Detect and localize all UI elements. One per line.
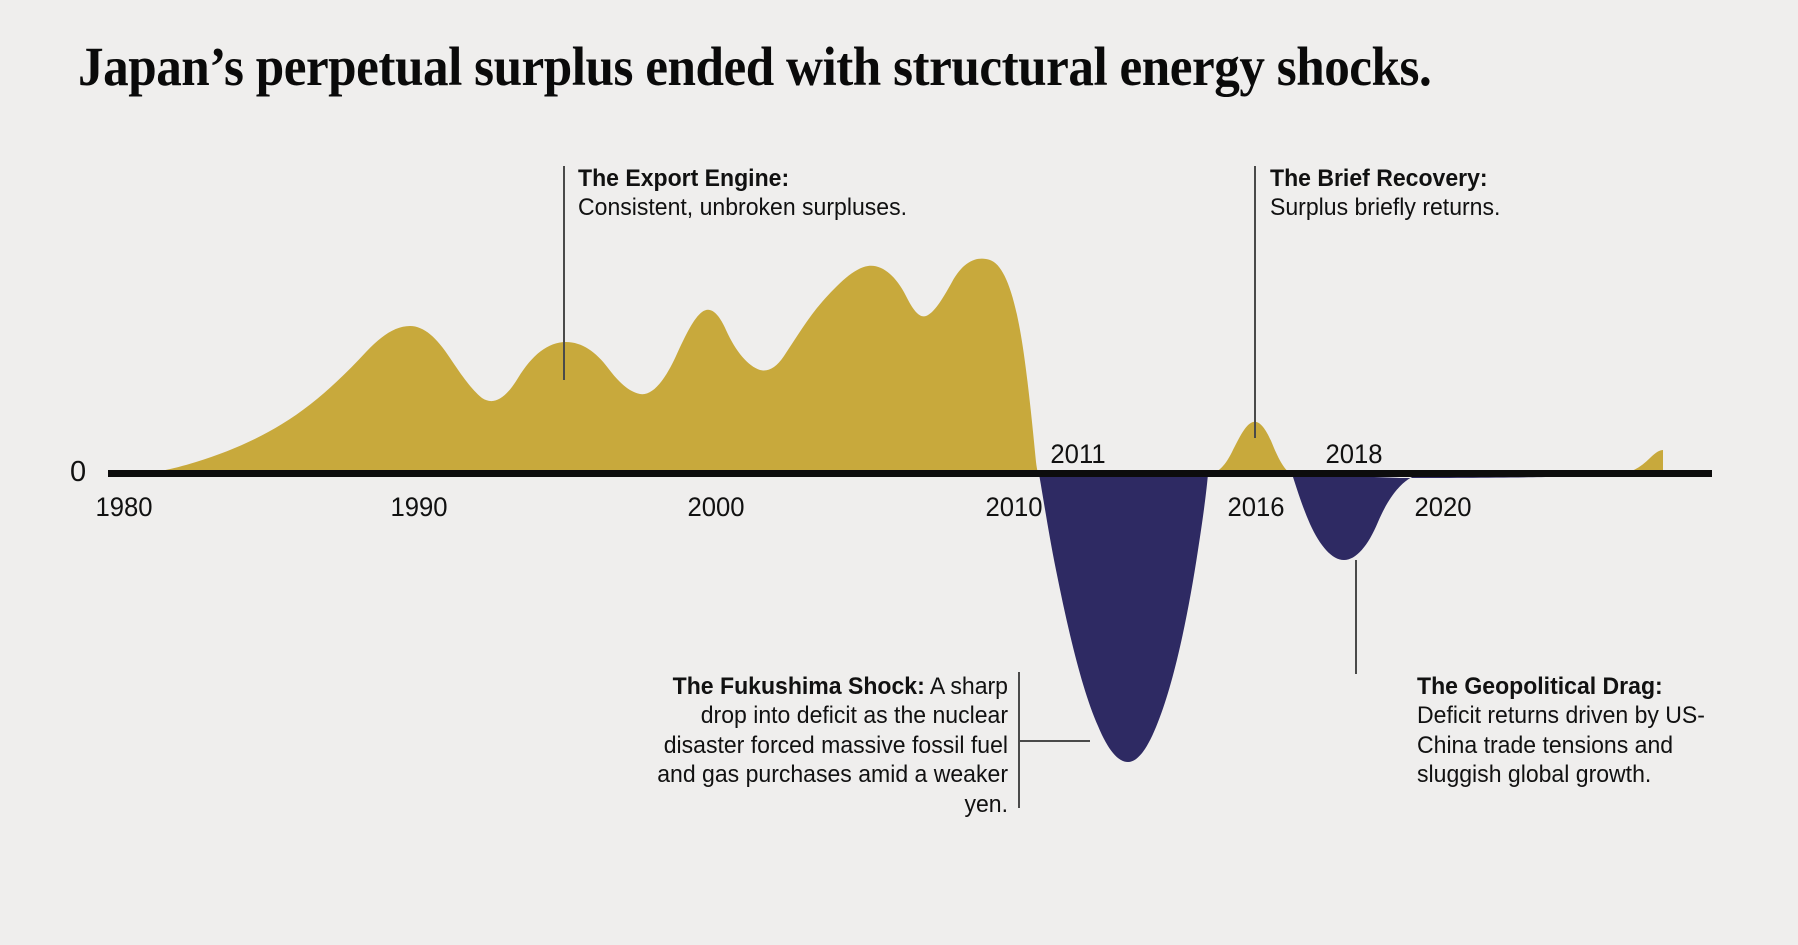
- leader-line-geopolitical-drag: [1355, 560, 1357, 674]
- axis-tick-1980: 1980: [77, 492, 172, 523]
- annotation-geopolitical-drag-heading: The Geopolitical Drag:: [1417, 672, 1727, 701]
- axis-tick-1990: 1990: [372, 492, 467, 523]
- deficit-area-fukushima: [1039, 474, 1208, 762]
- annotation-brief-recovery: The Brief Recovery: Surplus briefly retu…: [1270, 164, 1627, 223]
- annotation-brief-recovery-heading: The Brief Recovery:: [1270, 164, 1627, 193]
- leader-line-export-engine: [563, 166, 565, 380]
- axis-tick-2000: 2000: [669, 492, 764, 523]
- zero-axis-line: [108, 470, 1712, 477]
- annotation-geopolitical-drag: The Geopolitical Drag: Deficit returns d…: [1417, 672, 1727, 790]
- annotation-export-engine-heading: The Export Engine:: [578, 164, 973, 193]
- axis-zero-label: 0: [70, 456, 86, 489]
- leader-line-fukushima-horizontal: [1018, 740, 1090, 742]
- axis-tick-2010: 2010: [967, 492, 1062, 523]
- annotation-geopolitical-drag-body: Deficit returns driven by US-China trade…: [1417, 701, 1727, 789]
- axis-tick-2011: 2011: [1031, 439, 1126, 470]
- surplus-area: [124, 259, 1039, 474]
- axis-tick-2018: 2018: [1307, 439, 1402, 470]
- leader-line-brief-recovery: [1254, 166, 1256, 438]
- annotation-export-engine-body: Consistent, unbroken surpluses.: [578, 193, 973, 222]
- recovery-bump: [1208, 422, 1292, 474]
- annotation-fukushima-shock-heading: The Fukushima Shock:: [673, 673, 925, 700]
- annotation-brief-recovery-body: Surplus briefly returns.: [1270, 193, 1627, 222]
- annotation-fukushima-shock: The Fukushima Shock: A sharp drop into d…: [641, 672, 1008, 819]
- infographic-canvas: Japan’s perpetual surplus ended with str…: [0, 0, 1798, 945]
- annotation-export-engine: The Export Engine: Consistent, unbroken …: [578, 164, 973, 223]
- axis-tick-2020: 2020: [1396, 492, 1491, 523]
- axis-tick-2016: 2016: [1209, 492, 1304, 523]
